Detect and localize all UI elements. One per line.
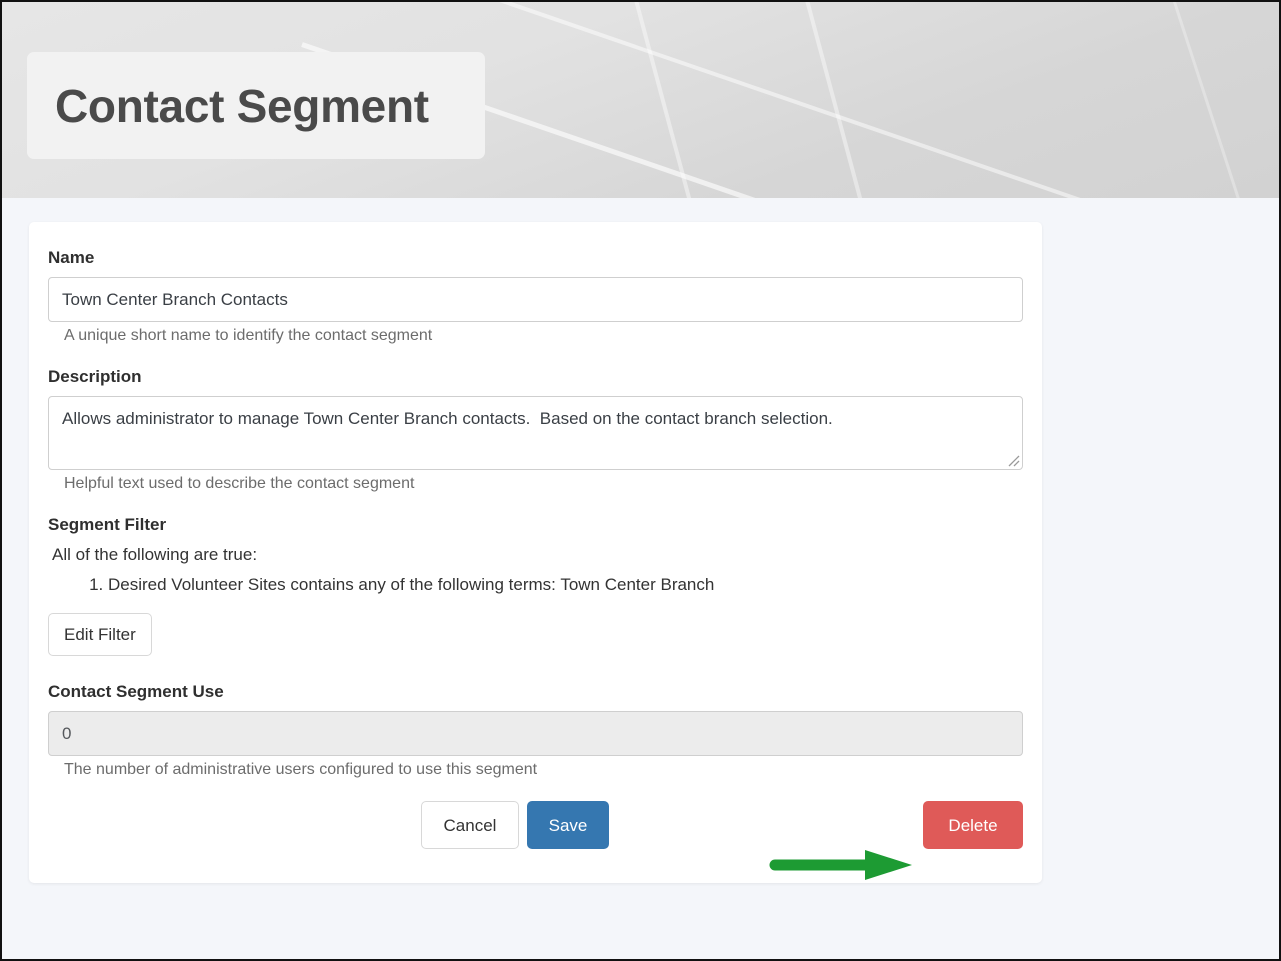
segment-use-label: Contact Segment Use [48, 682, 1023, 702]
page-title-box: Contact Segment [27, 52, 485, 159]
banner-decorative-streak [627, 2, 740, 198]
save-button[interactable]: Save [527, 801, 609, 849]
cancel-button[interactable]: Cancel [421, 801, 519, 849]
name-input[interactable] [48, 277, 1023, 322]
segment-filter-rule: Desired Volunteer Sites contains any of … [108, 571, 1023, 599]
edit-filter-button[interactable]: Edit Filter [48, 613, 152, 656]
segment-filter-intro: All of the following are true: [52, 545, 1023, 565]
delete-button[interactable]: Delete [923, 801, 1023, 849]
banner-decorative-streak [1161, 2, 1279, 198]
page-title: Contact Segment [55, 83, 429, 129]
description-field-label: Description [48, 367, 1023, 387]
segment-filter-rule-list: Desired Volunteer Sites contains any of … [48, 571, 1023, 599]
description-textarea-wrap [48, 396, 1023, 470]
contact-segment-form-card: Name A unique short name to identify the… [29, 222, 1042, 883]
description-textarea[interactable] [48, 396, 1023, 470]
segment-use-input [48, 711, 1023, 756]
primary-actions-group: Cancel Save [421, 801, 609, 849]
page-content: Name A unique short name to identify the… [2, 198, 1279, 883]
segment-use-help-text: The number of administrative users confi… [64, 761, 1023, 779]
name-field-label: Name [48, 248, 1023, 268]
segment-filter-label: Segment Filter [48, 515, 1023, 535]
screenshot-frame: Contact Segment Name A unique short name… [0, 0, 1281, 961]
form-action-row: Cancel Save Delete [48, 801, 1023, 849]
banner-decorative-streak [798, 2, 911, 198]
description-help-text: Helpful text used to describe the contac… [64, 475, 1023, 493]
name-help-text: A unique short name to identify the cont… [64, 327, 1023, 345]
page-banner: Contact Segment [2, 2, 1279, 198]
banner-decorative-streak [481, 2, 1279, 198]
